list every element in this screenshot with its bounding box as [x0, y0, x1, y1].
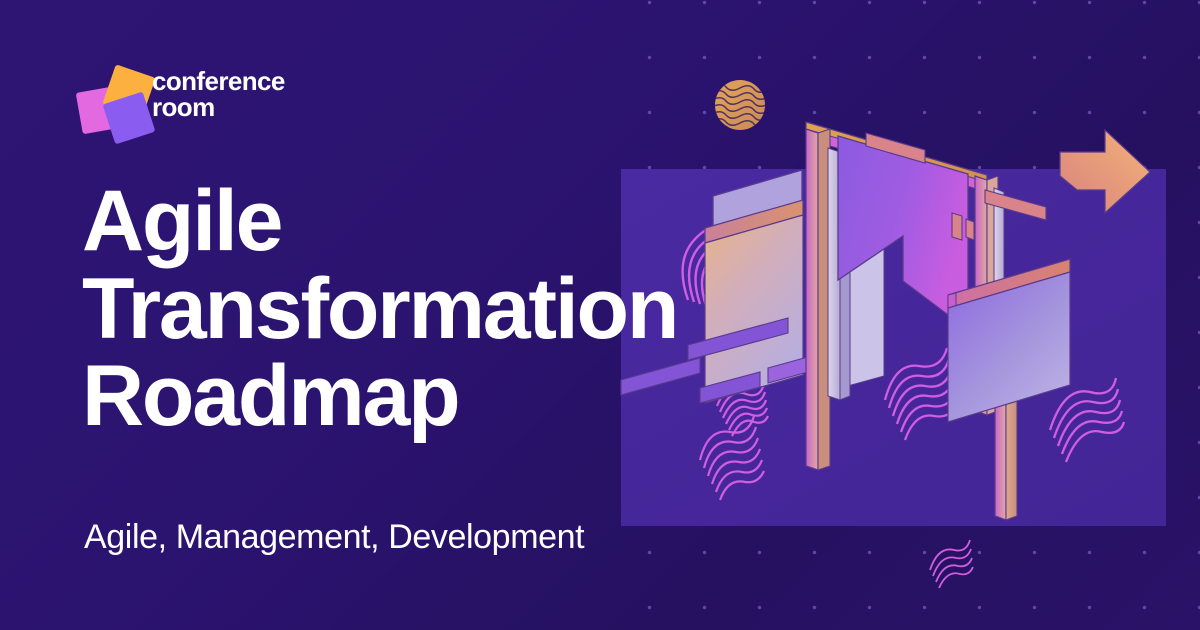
title-line-1: Agile: [82, 178, 782, 266]
logo-wordmark-line2: room: [152, 95, 285, 121]
page-title: Agile Transformation Roadmap: [82, 178, 782, 441]
brand-logo[interactable]: conference room: [76, 62, 306, 142]
title-line-2: Transformation: [82, 266, 782, 354]
og-banner-canvas: conference room Agile Transformation Roa…: [0, 0, 1200, 630]
title-line-3: Roadmap: [82, 353, 782, 441]
logo-wordmark-line1: conference: [152, 69, 285, 95]
logo-wordmark: conference room: [152, 69, 285, 120]
page-subtitle: Agile, Management, Development: [84, 518, 584, 557]
